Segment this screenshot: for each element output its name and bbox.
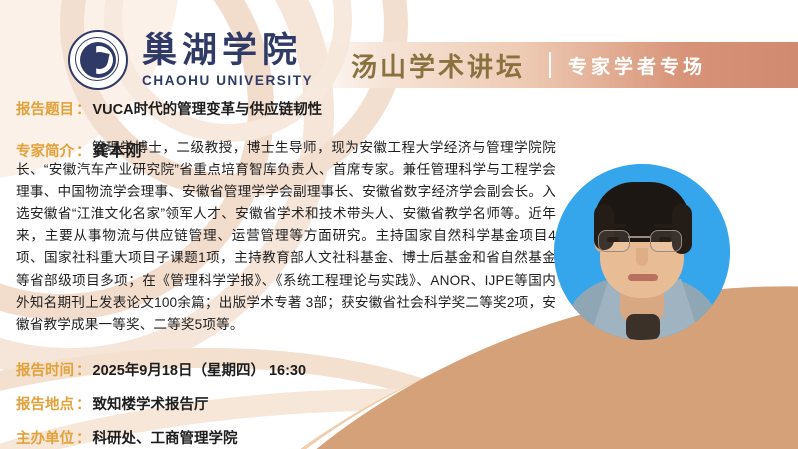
speaker-name: 龚本刚 bbox=[93, 137, 147, 161]
lecture-title-row: 报告题目 ： VUCA时代的管理变革与供应链韧性 bbox=[16, 98, 322, 119]
lecture-place-value: 致知楼学术报告厅 bbox=[93, 393, 209, 414]
portrait-eye-right bbox=[659, 237, 671, 242]
lecture-time-label: 报告时间 bbox=[16, 359, 74, 380]
portrait-eyebrow-left bbox=[602, 224, 626, 228]
lecture-place-label: 报告地点 bbox=[16, 393, 74, 414]
lecture-time-row: 报告时间 ： 2025年9月18日（星期四） 16:30 bbox=[16, 359, 306, 380]
lecture-organizer-value: 科研处、工商管理学院 bbox=[93, 427, 238, 448]
lecture-poster: 巢湖学院 CHAOHU UNIVERSITY 汤山学术讲坛 专家学者专场 报告题… bbox=[0, 0, 798, 449]
speaker-bio-text: 管理学博士，二级教授，博士生导师，现为安徽工程大学经济与管理学院院长、“安徽汽车… bbox=[16, 137, 556, 336]
portrait-eye-left bbox=[607, 237, 619, 242]
lecture-place-colon: ： bbox=[74, 393, 93, 414]
lecture-time-colon: ： bbox=[74, 359, 93, 380]
portrait-tie bbox=[626, 314, 660, 340]
lecture-title-colon: ： bbox=[74, 98, 93, 119]
lecture-organizer-row: 主办单位 ： 科研处、工商管理学院 bbox=[16, 427, 238, 448]
speaker-portrait bbox=[554, 164, 730, 340]
speaker-bio-label: 专家简介 bbox=[16, 140, 74, 161]
lecture-time-value: 2025年9月18日（星期四） 16:30 bbox=[93, 359, 307, 380]
lecture-title-label: 报告题目 bbox=[16, 98, 74, 119]
portrait-mouth bbox=[628, 274, 658, 281]
speaker-bio-heading: 专家简介 ： 龚本刚 bbox=[16, 137, 146, 161]
speaker-bio-colon: ： bbox=[74, 140, 93, 161]
lecture-title-value: VUCA时代的管理变革与供应链韧性 bbox=[93, 98, 323, 119]
lecture-place-row: 报告地点 ： 致知楼学术报告厅 bbox=[16, 393, 209, 414]
portrait-nose bbox=[636, 248, 648, 266]
speaker-bio-block: 专家简介 ： 龚本刚 管理学博士，二级教授，博士生导师，现为安徽工程大学经济与管… bbox=[16, 137, 556, 336]
lecture-organizer-colon: ： bbox=[74, 427, 93, 448]
portrait-eyebrow-right bbox=[654, 224, 678, 228]
lecture-organizer-label: 主办单位 bbox=[16, 427, 74, 448]
portrait-eyeglass-bridge bbox=[628, 236, 650, 238]
